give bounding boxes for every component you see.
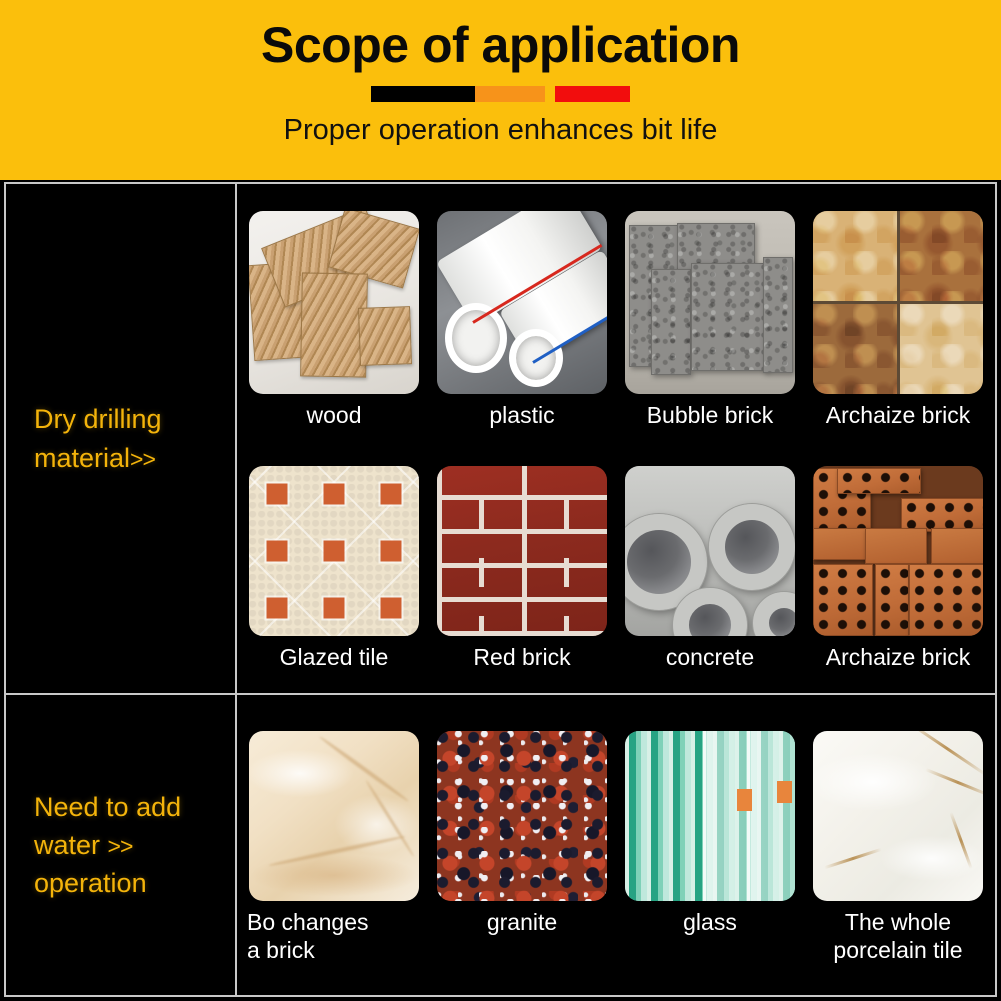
tile-label-archaize-brick-2: Archaize brick — [826, 643, 970, 671]
divider-segment-gap — [545, 86, 555, 102]
tile-label-bo-changes-a-brick: Bo changes a brick — [247, 908, 421, 964]
thumbnail-archaize-brick-1[interactable] — [813, 211, 983, 394]
tile-label-glass: glass — [683, 908, 737, 936]
plastic-pipes-photo — [437, 211, 607, 394]
tile-wood[interactable]: wood — [247, 211, 421, 429]
category-cell-wet-drilling: Need to add water >> operation — [6, 695, 237, 995]
divider-segment-red — [555, 86, 630, 102]
category-line-2: material — [34, 443, 130, 473]
category-label-wet-drilling: Need to add water >> operation — [34, 788, 181, 903]
tile-archaize-brick-2[interactable]: Archaize brick — [811, 466, 985, 671]
page-title: Scope of application — [261, 16, 740, 74]
tile-whole-porcelain-tile[interactable]: The whole porcelain tile — [811, 731, 985, 964]
tile-label-line-1: The whole — [845, 909, 951, 935]
tile-red-brick[interactable]: Red brick — [435, 466, 609, 671]
concrete-pipes-photo — [625, 466, 795, 636]
thumbnail-red-brick[interactable] — [437, 466, 607, 636]
tile-plastic[interactable]: plastic — [435, 211, 609, 429]
aerated-block-photo — [625, 211, 795, 394]
page-subtitle: Proper operation enhances bit life — [284, 114, 718, 147]
tile-row-2: Glazed tile Red brick — [247, 466, 985, 671]
tile-glazed-tile[interactable]: Glazed tile — [247, 466, 421, 671]
tile-label-archaize-brick-1: Archaize brick — [826, 401, 970, 429]
glass-sheets-photo — [625, 731, 795, 901]
category-line-1: Need to add — [34, 792, 181, 822]
white-porcelain-photo — [813, 731, 983, 901]
tile-row-3: Bo changes a brick granite — [247, 731, 985, 964]
divider-segment-orange — [475, 86, 545, 102]
tile-label-plastic: plastic — [489, 401, 554, 429]
tiles-area-wet-drilling: Bo changes a brick granite — [237, 695, 995, 995]
thumbnail-plastic[interactable] — [437, 211, 607, 394]
thumbnail-archaize-brick-2[interactable] — [813, 466, 983, 636]
category-cell-dry-drilling: Dry drilling material>> — [6, 184, 237, 693]
chevron-right-icon: >> — [108, 833, 133, 859]
tile-bubble-brick[interactable]: Bubble brick — [623, 211, 797, 429]
thumbnail-glazed-tile[interactable] — [249, 466, 419, 636]
thumbnail-granite[interactable] — [437, 731, 607, 901]
red-brick-photo — [437, 466, 607, 636]
chevron-right-icon: >> — [130, 446, 155, 472]
category-label-dry-drilling: Dry drilling material>> — [34, 400, 162, 477]
tile-granite[interactable]: granite — [435, 731, 609, 936]
perforated-brick-photo — [813, 466, 983, 636]
glazed-tile-photo — [249, 466, 419, 636]
infographic-page: Scope of application Proper operation en… — [0, 0, 1001, 1001]
thumbnail-bo-changes-a-brick[interactable] — [249, 731, 419, 901]
tile-label-granite: granite — [487, 908, 557, 936]
tile-label-line-2: porcelain tile — [833, 937, 962, 963]
tile-label-red-brick: Red brick — [473, 643, 570, 671]
thumbnail-whole-porcelain-tile[interactable] — [813, 731, 983, 901]
category-line-3: operation — [34, 868, 147, 898]
tile-bo-changes-a-brick[interactable]: Bo changes a brick — [247, 731, 421, 964]
wood-photo — [249, 211, 419, 394]
tile-label-whole-porcelain-tile: The whole porcelain tile — [833, 908, 962, 964]
tiles-area-dry-drilling: wood pl — [237, 184, 995, 693]
tile-row-1: wood pl — [247, 211, 985, 429]
section-dry-drilling: Dry drilling material>> — [6, 184, 995, 693]
tile-label-line-1: Bo changes — [247, 909, 368, 935]
application-table: Dry drilling material>> — [4, 182, 997, 997]
tile-label-glazed-tile: Glazed tile — [280, 643, 389, 671]
tricolor-divider-bar — [371, 86, 631, 102]
tile-archaize-brick-1[interactable]: Archaize brick — [811, 211, 985, 429]
tile-label-wood: wood — [307, 401, 362, 429]
thumbnail-concrete[interactable] — [625, 466, 795, 636]
thumbnail-glass[interactable] — [625, 731, 795, 901]
tile-label-bubble-brick: Bubble brick — [647, 401, 774, 429]
tile-label-concrete: concrete — [666, 643, 754, 671]
tile-glass[interactable]: glass — [623, 731, 797, 936]
thumbnail-wood[interactable] — [249, 211, 419, 394]
beige-marble-photo — [249, 731, 419, 901]
category-line-2: water — [34, 830, 100, 860]
section-wet-drilling: Need to add water >> operation — [6, 693, 995, 995]
red-granite-photo — [437, 731, 607, 901]
thumbnail-bubble-brick[interactable] — [625, 211, 795, 394]
tile-label-line-2: a brick — [247, 937, 315, 963]
tile-concrete[interactable]: concrete — [623, 466, 797, 671]
category-line-1: Dry drilling — [34, 404, 162, 434]
divider-segment-black — [371, 86, 475, 102]
archaize-tile-photo — [813, 211, 983, 394]
header-banner: Scope of application Proper operation en… — [0, 0, 1001, 180]
